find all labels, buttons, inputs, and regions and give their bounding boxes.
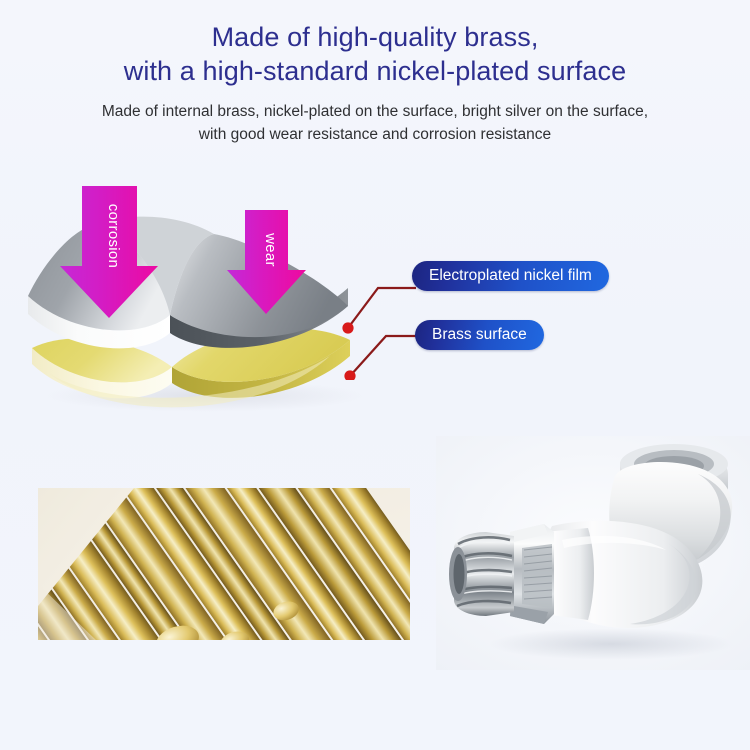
fitting-male-thread	[449, 532, 514, 616]
page-subtitle: Made of internal brass, nickel-plated on…	[0, 100, 750, 146]
callout-group: Electroplated nickel film Brass surface	[330, 250, 750, 380]
page-title: Made of high-quality brass, with a high-…	[0, 0, 750, 88]
subtitle-line-2: with good wear resistance and corrosion …	[0, 123, 750, 146]
title-line-2: with a high-standard nickel-plated surfa…	[0, 54, 750, 88]
infographic-page: Made of high-quality brass, with a high-…	[0, 0, 750, 750]
arrow-corrosion-label: corrosion	[105, 204, 122, 268]
pneumatic-elbow-fitting-photo	[436, 436, 750, 670]
callout-electroplated-nickel-film[interactable]: Electroplated nickel film	[412, 261, 609, 291]
title-line-1: Made of high-quality brass,	[0, 20, 750, 54]
brass-rods-photo	[38, 488, 410, 640]
arrow-wear-label: wear	[262, 232, 279, 267]
header-section: Made of high-quality brass, with a high-…	[0, 0, 750, 146]
subtitle-line-1: Made of internal brass, nickel-plated on…	[0, 100, 750, 123]
fitting-hex-nut	[510, 524, 554, 624]
callout-brass-surface[interactable]: Brass surface	[415, 320, 544, 350]
nickel-anchor-dot	[342, 322, 353, 333]
